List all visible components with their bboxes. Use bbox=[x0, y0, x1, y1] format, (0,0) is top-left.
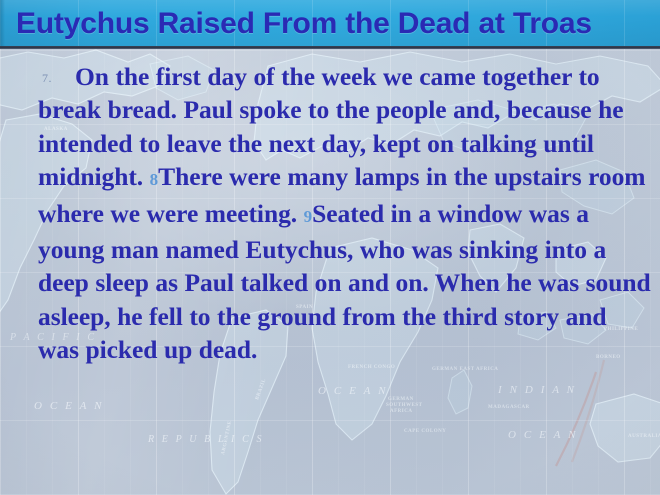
slide-title: Eutychus Raised From the Dead at Troas bbox=[16, 4, 592, 44]
title-separator-rule bbox=[0, 46, 660, 49]
title-bar-left-edge bbox=[0, 0, 5, 46]
verse-number-8: 8 bbox=[150, 170, 159, 189]
slide-title-bar: Eutychus Raised From the Dead at Troas bbox=[0, 0, 660, 46]
slide-body: 7. On the first day of the week we came … bbox=[38, 60, 654, 367]
list-marker: 7. bbox=[42, 71, 52, 86]
scripture-paragraph: On the first day of the week we came tog… bbox=[38, 60, 654, 367]
verse-number-9: 9 bbox=[304, 207, 313, 226]
slide-canvas: O C E A N R E P U B L I C S O C E A N I … bbox=[0, 0, 660, 495]
